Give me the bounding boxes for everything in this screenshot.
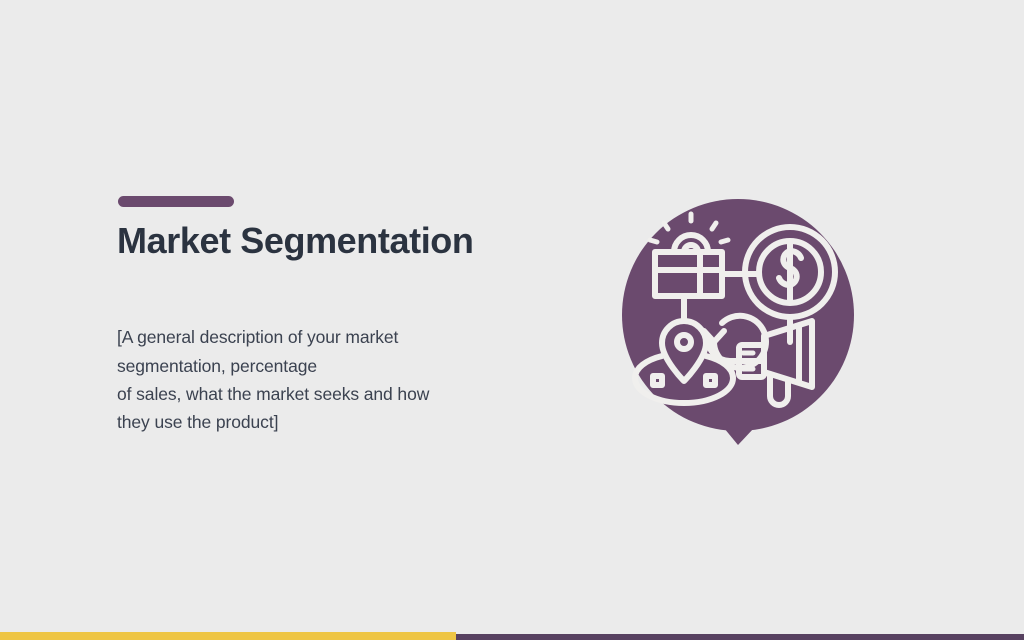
text-column: Market Segmentation [A general descripti… (117, 196, 547, 437)
footer-rule-yellow (0, 632, 456, 640)
speech-bubble-graphic (612, 190, 872, 465)
page-title: Market Segmentation (117, 221, 547, 261)
body-description: [A general description of your market se… (117, 261, 547, 436)
footer-rule-purple (456, 634, 1024, 640)
body-line: of sales, what the market seeks and how (117, 380, 547, 408)
market-segmentation-illustration (612, 190, 872, 465)
body-line: segmentation, percentage (117, 352, 547, 380)
body-line: they use the product] (117, 408, 547, 436)
body-line: [A general description of your market (117, 323, 547, 351)
title-accent-bar (118, 196, 234, 207)
slide-canvas: Market Segmentation [A general descripti… (0, 0, 1024, 640)
